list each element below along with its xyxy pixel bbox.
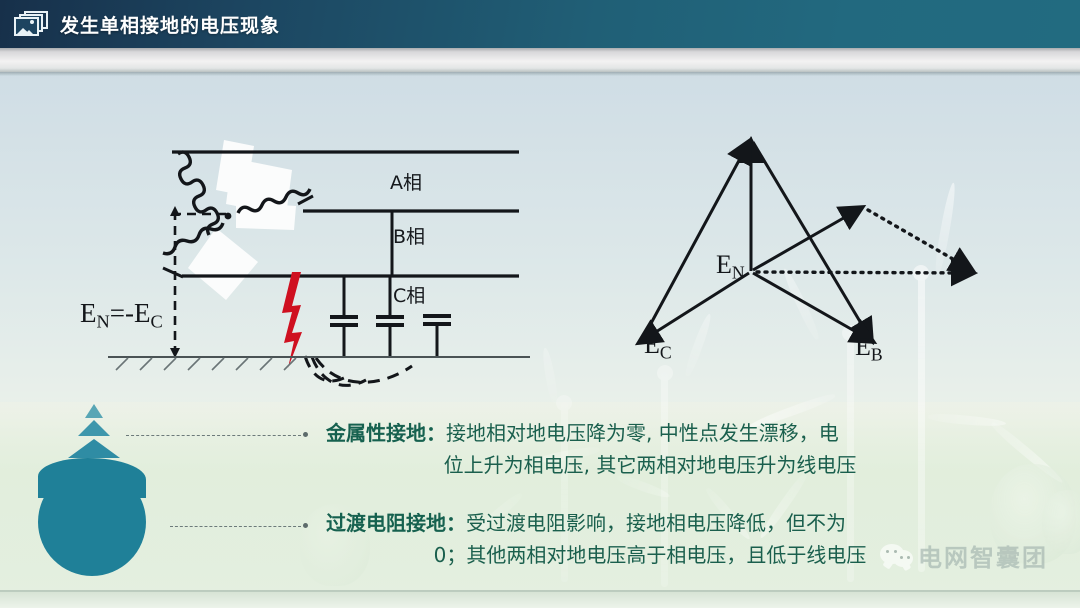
connector-line-2 [170,526,301,528]
drop-body [38,468,146,576]
phasor-EB-base: E [855,332,871,361]
gallery-sun [30,20,34,24]
gallery-icon [14,11,48,37]
slide-bottom-edge [0,590,1080,608]
phasor-EN-sub: N [732,262,745,282]
bullet-1-line1: 接地相对地电压降为零, 中性点发生漂移，电 [446,421,839,445]
phasor-label-EB: EB [855,332,883,365]
header-shelf [0,48,1080,72]
equation-E2: E [134,298,151,328]
wechat-eye [900,556,903,559]
gallery-mountain-2 [23,30,35,36]
connector-line-1 [126,435,301,437]
wechat-watermark: 电网智囊团 [880,538,1048,573]
metallic-ground-bullet: 金属性接地：接地相对地电压降为零, 中性点发生漂移，电 位上升为相电压, 其它两… [326,418,1026,481]
phasor-label-EN: EN [716,250,745,283]
phasor-EB-sub: B [871,344,883,364]
phase-b-label: B相 [393,222,425,249]
connector-dot-2 [303,523,308,528]
watermark-text: 电网智囊团 [918,538,1048,573]
bullet-2-lead: 过渡电阻接地： [326,511,466,535]
connector-dot-1 [303,432,308,437]
phasor-EN-base: E [716,250,732,279]
wechat-eye [907,556,910,559]
drop-segment [85,404,103,418]
wechat-eye [886,550,889,553]
wechat-icon [880,542,914,570]
equation-operator: =- [110,298,134,328]
drop-segment [78,420,110,436]
phasor-label-EC: EC [644,330,672,363]
bullet-2-line1: 受过渡电阻影响，接地相电压降低，但不为 [466,511,846,535]
bullet-1-line2: 位上升为相电压, 其它两相对地电压升为线电压 [326,450,1026,481]
wechat-eye [894,550,897,553]
equation-sub-N: N [97,312,110,332]
bullet-1-lead: 金属性接地： [326,421,446,445]
equation-sub-C: C [150,312,162,332]
drop-segment [68,439,120,458]
phase-a-label: A相 [390,168,422,195]
phasor-EC-base: E [644,330,660,359]
neutral-equation-label: EN=-EC [80,298,163,333]
page-title: 发生单相接地的电压现象 [60,11,280,38]
water-drop-decoration [30,390,210,580]
phasor-EC-sub: C [660,342,672,362]
slide-root: A相 B相 C相 EN=-EC EN EC EB 金属性接地：接地相对地电压降为… [0,0,1080,608]
phase-c-label: C相 [393,281,425,308]
equation-E1: E [80,298,97,328]
page-header: 发生单相接地的电压现象 [0,0,1080,48]
